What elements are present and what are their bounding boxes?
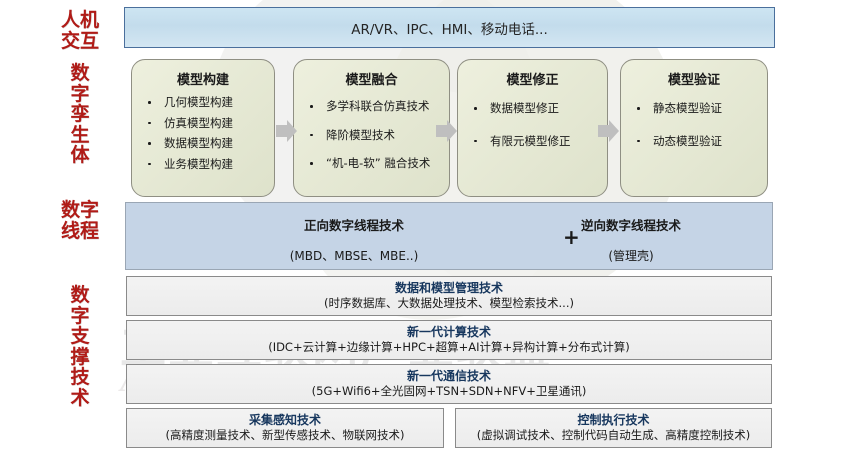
model-box-list-item: 有限元模型修正 <box>470 125 603 158</box>
model-box-model-fusion[interactable]: 模型融合 多学科联合仿真技术降阶模型技术“机-电-软” 融合技术 <box>293 59 450 197</box>
human-machine-interaction-banner: AR/VR、IPC、HMI、移动电话... <box>124 7 775 48</box>
support-row-control-execution[interactable]: 控制执行技术 (虚拟调试技术、控制代码自动生成、高精度控制技术) <box>455 408 772 448</box>
reverse-digital-thread: 逆向数字线程技术 (管理壳) <box>481 215 781 264</box>
support-row-subtitle: (高精度测量技术、新型传感技术、物联网技术) <box>166 428 405 442</box>
support-row-next-gen-computing[interactable]: 新一代计算技术 (IDC+云计算+边缘计算+HPC+超算+AI计算+异构计算+分… <box>126 320 772 360</box>
model-box-title: 模型构建 <box>132 69 274 88</box>
support-row-subtitle: (时序数据库、大数据处理技术、模型检索技术...) <box>324 296 574 310</box>
model-box-list-item: 数据模型构建 <box>144 133 270 154</box>
arrow-right-icon <box>276 119 297 143</box>
model-box-list: 静态模型验证动态模型验证 <box>621 92 767 157</box>
model-box-model-validation[interactable]: 模型验证 静态模型验证动态模型验证 <box>620 59 768 197</box>
support-row-data-and-model-management[interactable]: 数据和模型管理技术 (时序数据库、大数据处理技术、模型检索技术...) <box>126 276 772 316</box>
forward-digital-thread: 正向数字线程技术 (MBD、MBSE、MBE..) <box>204 215 504 264</box>
model-box-list-item: 静态模型验证 <box>633 92 763 125</box>
model-box-list: 多学科联合仿真技术降阶模型技术“机-电-软” 融合技术 <box>294 92 449 178</box>
model-box-list: 数据模型修正有限元模型修正 <box>458 92 607 157</box>
support-row-title: 数据和模型管理技术 <box>395 281 503 296</box>
support-row-title: 新一代通信技术 <box>407 369 491 384</box>
model-box-list-item: 多学科联合仿真技术 <box>306 92 445 121</box>
plus-symbol: + <box>563 225 580 249</box>
support-row-title: 采集感知技术 <box>249 413 321 428</box>
diagram-canvas: 工业互联网产业联盟 Alliance of Industrial Interne… <box>0 0 841 463</box>
support-row-subtitle: (5G+Wifi6+全光固网+TSN+SDN+NFV+卫星通讯) <box>312 384 587 398</box>
rail-label-digital-support-technology: 数 字 支 撑 技 术 <box>44 285 116 408</box>
model-box-list-item: 仿真模型构建 <box>144 113 270 134</box>
support-row-title: 新一代计算技术 <box>407 325 491 340</box>
model-box-list-item: 动态模型验证 <box>633 125 763 158</box>
forward-thread-title: 正向数字线程技术 <box>204 215 504 234</box>
model-box-list: 几何模型构建仿真模型构建数据模型构建业务模型构建 <box>132 92 274 175</box>
model-box-title: 模型融合 <box>294 69 449 88</box>
left-rail: 人机 交互数 字 孪 生 体数字 线程数 字 支 撑 技 术 <box>0 0 120 463</box>
reverse-thread-subtitle: (管理壳) <box>481 247 781 264</box>
model-box-list-item: 数据模型修正 <box>470 92 603 125</box>
support-row-title: 控制执行技术 <box>577 413 649 428</box>
model-box-model-construction[interactable]: 模型构建 几何模型构建仿真模型构建数据模型构建业务模型构建 <box>131 59 275 197</box>
support-row-subtitle: (IDC+云计算+边缘计算+HPC+超算+AI计算+异构计算+分布式计算) <box>268 340 630 354</box>
support-row-next-gen-communication[interactable]: 新一代通信技术 (5G+Wifi6+全光固网+TSN+SDN+NFV+卫星通讯) <box>126 364 772 404</box>
reverse-thread-title: 逆向数字线程技术 <box>481 215 781 234</box>
model-box-title: 模型修正 <box>458 69 607 88</box>
model-box-title: 模型验证 <box>621 69 767 88</box>
rail-label-digital-twin: 数 字 孪 生 体 <box>44 63 116 166</box>
model-box-list-item: “机-电-软” 融合技术 <box>306 149 445 178</box>
model-box-list-item: 业务模型构建 <box>144 154 270 175</box>
arrow-right-icon <box>598 119 619 143</box>
banner-label: AR/VR、IPC、HMI、移动电话... <box>351 18 547 38</box>
arrow-right-icon <box>436 119 457 143</box>
support-row-acquisition-sensing[interactable]: 采集感知技术 (高精度测量技术、新型传感技术、物联网技术) <box>126 408 444 448</box>
model-box-list-item: 降阶模型技术 <box>306 121 445 150</box>
model-box-model-correction[interactable]: 模型修正 数据模型修正有限元模型修正 <box>457 59 608 197</box>
rail-label-human-machine-interaction: 人机 交互 <box>44 10 116 51</box>
forward-thread-subtitle: (MBD、MBSE、MBE..) <box>204 247 504 264</box>
support-row-subtitle: (虚拟调试技术、控制代码自动生成、高精度控制技术) <box>477 428 750 442</box>
model-box-list-item: 几何模型构建 <box>144 92 270 113</box>
digital-thread-panel: 正向数字线程技术 (MBD、MBSE、MBE..) + 逆向数字线程技术 (管理… <box>125 202 773 270</box>
rail-label-digital-thread: 数字 线程 <box>44 200 116 241</box>
